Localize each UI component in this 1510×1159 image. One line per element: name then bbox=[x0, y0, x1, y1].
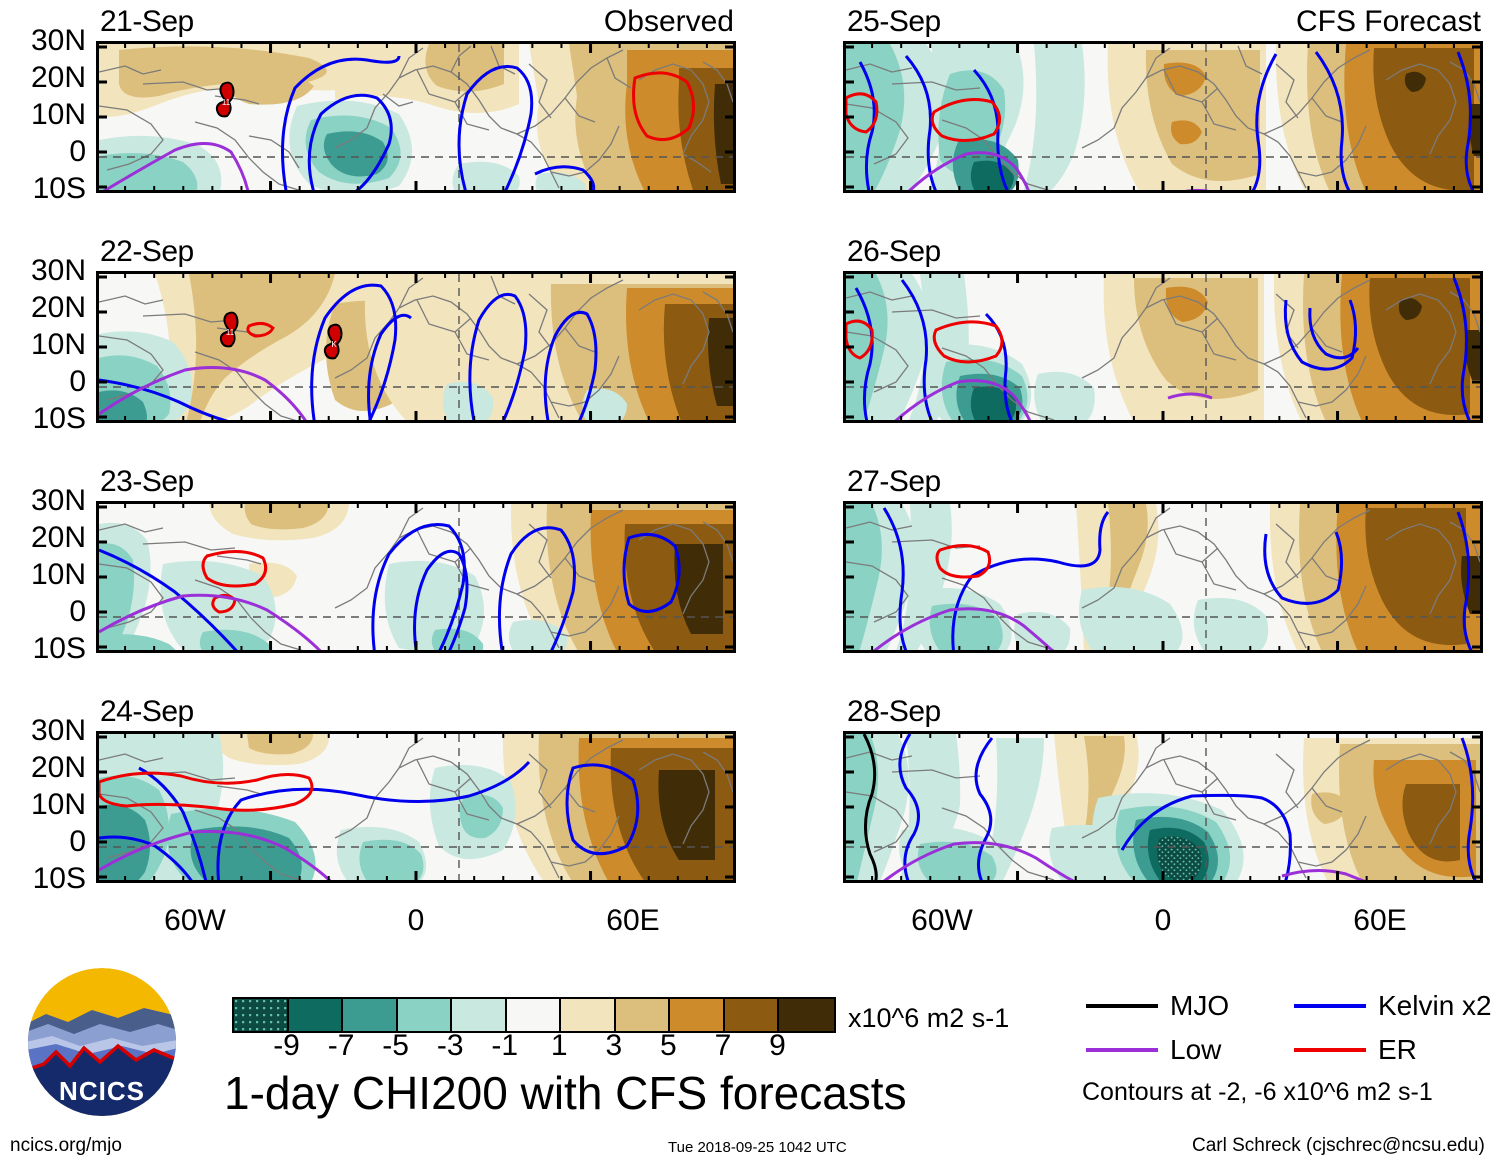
panel-title: 25-Sep bbox=[847, 7, 941, 37]
colorbar-units-label: x10^6 m2 s-1 bbox=[848, 1005, 1009, 1032]
y-tick-label: 30N bbox=[0, 256, 86, 293]
x-tick-label-left-60e: 60E bbox=[588, 906, 678, 936]
panel-28-sep: 28-Sep bbox=[843, 731, 1483, 883]
panel-title: 21-Sep bbox=[100, 7, 194, 37]
colorbar-segment bbox=[725, 999, 780, 1031]
panel-26-sep: 26-Sep bbox=[843, 271, 1483, 423]
y-tick-label: 20N bbox=[0, 293, 86, 330]
panel-title: 28-Sep bbox=[847, 697, 941, 727]
colorbar-tick-label: 1 bbox=[551, 1031, 568, 1061]
y-tick-label: 30N bbox=[0, 486, 86, 523]
panel-title: 22-Sep bbox=[100, 237, 194, 267]
y-tick-label: 30N bbox=[0, 716, 86, 753]
y-tick-label: 10N bbox=[0, 100, 86, 137]
contour-note: Contours at -2, -6 x10^6 m2 s-1 bbox=[1082, 1080, 1433, 1105]
map-23-sep[interactable] bbox=[96, 501, 736, 653]
map-27-sep[interactable] bbox=[843, 501, 1483, 653]
y-tick-label: 20N bbox=[0, 63, 86, 100]
map-28-sep[interactable] bbox=[843, 731, 1483, 883]
legend-item-kelvin: Kelvin x2 bbox=[1294, 992, 1492, 1020]
y-tick-label: 10S bbox=[0, 404, 86, 441]
y-tick-label: 0 bbox=[0, 597, 86, 634]
legend-item-low: Low bbox=[1086, 1036, 1221, 1064]
column-header-observed: Observed bbox=[604, 7, 734, 37]
colorbar-tick-label: 7 bbox=[715, 1031, 732, 1061]
y-axis-labels-r1c1: 30N 20N 10N 0 10S bbox=[0, 26, 86, 211]
er-line-swatch bbox=[1294, 1048, 1366, 1052]
y-tick-label: 10N bbox=[0, 330, 86, 367]
panel-title: 24-Sep bbox=[100, 697, 194, 727]
legend-label: ER bbox=[1378, 1036, 1417, 1064]
map-22-sep[interactable]: 11 K bbox=[96, 271, 736, 423]
colorbar-tick-label: -1 bbox=[491, 1031, 518, 1061]
panel-title: 26-Sep bbox=[847, 237, 941, 267]
colorbar-tick-label: -5 bbox=[382, 1031, 409, 1061]
colorbar-segment bbox=[779, 999, 834, 1031]
panel-24-sep: 24-Sep bbox=[96, 731, 736, 883]
svg-text:K: K bbox=[331, 340, 337, 349]
colorbar-segment bbox=[616, 999, 671, 1031]
y-tick-label: 10N bbox=[0, 790, 86, 827]
svg-text:11: 11 bbox=[222, 98, 231, 107]
x-tick-label-right-60e: 60E bbox=[1335, 906, 1425, 936]
x-tick-label-left-60w: 60W bbox=[150, 906, 240, 936]
legend-item-er: ER bbox=[1294, 1036, 1417, 1064]
colorbar-tick-label: -3 bbox=[437, 1031, 464, 1061]
panel-22-sep: 22-Sep bbox=[96, 271, 736, 423]
ncics-logo[interactable]: NCICS bbox=[26, 966, 178, 1118]
ncics-logo-text: NCICS bbox=[59, 1076, 145, 1106]
colorbar-segment bbox=[670, 999, 725, 1031]
y-tick-label: 10S bbox=[0, 864, 86, 901]
y-tick-label: 20N bbox=[0, 523, 86, 560]
x-tick-label-left-0: 0 bbox=[371, 906, 461, 936]
colorbar-tick-label: 9 bbox=[769, 1031, 786, 1061]
column-header-cfs-forecast: CFS Forecast bbox=[1296, 7, 1481, 37]
panel-27-sep: 27-Sep bbox=[843, 501, 1483, 653]
mjo-line-swatch bbox=[1086, 1004, 1158, 1008]
colorbar-segment bbox=[561, 999, 616, 1031]
y-tick-label: 20N bbox=[0, 753, 86, 790]
map-21-sep[interactable]: 11 bbox=[96, 41, 736, 193]
legend-label: Kelvin x2 bbox=[1378, 992, 1492, 1020]
page-title: 1-day CHI200 with CFS forecasts bbox=[224, 1070, 907, 1116]
kelvin-line-swatch bbox=[1294, 1004, 1366, 1008]
colorbar-segment bbox=[398, 999, 453, 1031]
y-tick-label: 30N bbox=[0, 26, 86, 63]
colorbar-segment bbox=[343, 999, 398, 1031]
legend-item-mjo: MJO bbox=[1086, 992, 1229, 1020]
y-tick-label: 0 bbox=[0, 137, 86, 174]
y-axis-labels-r3c1: 30N 20N 10N 0 10S bbox=[0, 486, 86, 671]
legend-label: MJO bbox=[1170, 992, 1229, 1020]
x-tick-label-right-60w: 60W bbox=[897, 906, 987, 936]
colorbar-tick-label: -7 bbox=[328, 1031, 355, 1061]
y-axis-labels-r2c1: 30N 20N 10N 0 10S bbox=[0, 256, 86, 441]
colorbar-tick-label: 5 bbox=[660, 1031, 677, 1061]
panel-25-sep: 25-Sep CFS Forecast bbox=[843, 41, 1483, 193]
footer-timestamp: Tue 2018-09-25 1042 UTC bbox=[668, 1138, 847, 1157]
colorbar-segment bbox=[234, 999, 289, 1031]
low-line-swatch bbox=[1086, 1048, 1158, 1052]
figure-canvas: 30N 20N 10N 0 10S 21-Sep Observed bbox=[0, 0, 1510, 1159]
panel-title: 27-Sep bbox=[847, 467, 941, 497]
footer-author: Carl Schreck (cjschrec@ncsu.edu) bbox=[1192, 1136, 1485, 1155]
panel-21-sep: 21-Sep Observed bbox=[96, 41, 736, 193]
colorbar-segment bbox=[289, 999, 344, 1031]
panel-title: 23-Sep bbox=[100, 467, 194, 497]
y-tick-label: 10S bbox=[0, 634, 86, 671]
colorbar-tick-label: -9 bbox=[273, 1031, 300, 1061]
y-tick-label: 0 bbox=[0, 827, 86, 864]
y-axis-labels-r4c1: 30N 20N 10N 0 10S bbox=[0, 716, 86, 901]
colorbar-segment bbox=[507, 999, 562, 1031]
y-tick-label: 10S bbox=[0, 174, 86, 211]
y-tick-label: 10N bbox=[0, 560, 86, 597]
y-tick-label: 0 bbox=[0, 367, 86, 404]
map-26-sep[interactable] bbox=[843, 271, 1483, 423]
map-24-sep[interactable] bbox=[96, 731, 736, 883]
colorbar bbox=[232, 997, 836, 1033]
colorbar-tick-label: 3 bbox=[605, 1031, 622, 1061]
wave-legend: MJO Kelvin x2 Low ER Contours at -2, -6 … bbox=[1086, 992, 1496, 1088]
x-tick-label-right-0: 0 bbox=[1118, 906, 1208, 936]
colorbar-segment bbox=[452, 999, 507, 1031]
legend-label: Low bbox=[1170, 1036, 1221, 1064]
footer-site-link[interactable]: ncics.org/mjo bbox=[10, 1136, 122, 1155]
svg-text:11: 11 bbox=[226, 328, 235, 337]
map-25-sep[interactable] bbox=[843, 41, 1483, 193]
panel-23-sep: 23-Sep bbox=[96, 501, 736, 653]
